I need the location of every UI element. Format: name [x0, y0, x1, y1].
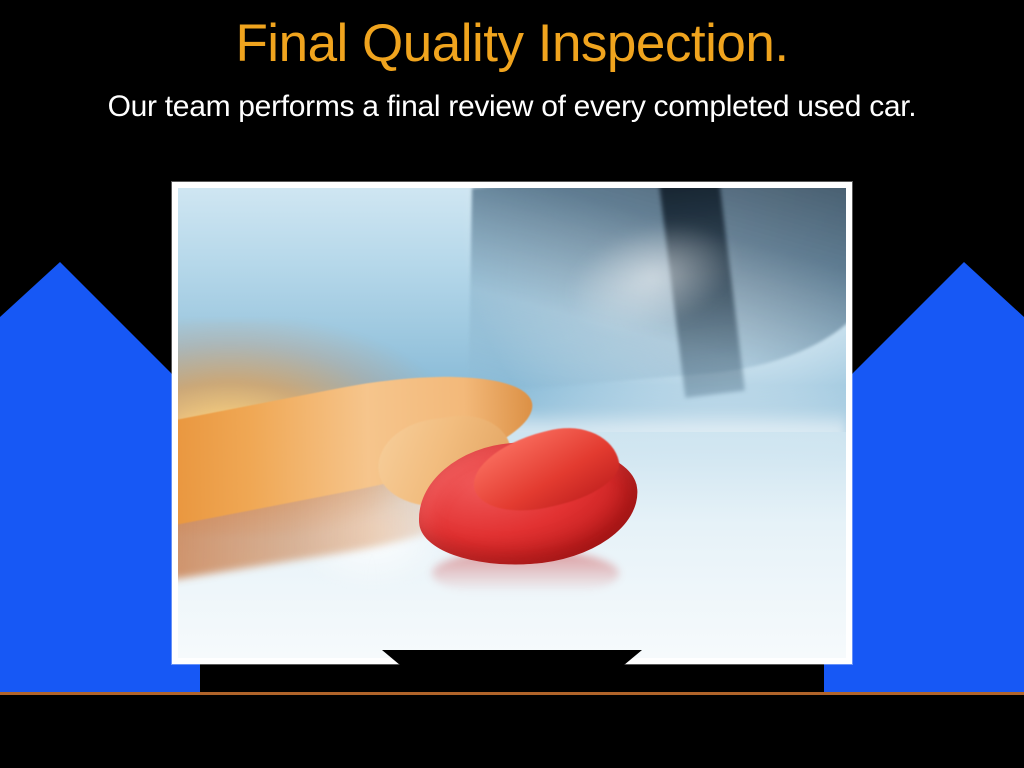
photo-frame: [172, 182, 852, 664]
page-title: Final Quality Inspection.: [0, 14, 1024, 74]
hero-photo: [178, 188, 846, 658]
bottom-notch: [382, 650, 642, 696]
blue-accent-left: [0, 262, 200, 692]
footer-bar: MIDLANDS Honda Sales (844) 805-1973 See …: [0, 695, 1024, 768]
page-subtitle: Our team performs a final review of ever…: [0, 88, 1024, 126]
promo-graphic: Final Quality Inspection. Our team perfo…: [0, 0, 1024, 768]
blue-accent-right: [824, 262, 1024, 692]
